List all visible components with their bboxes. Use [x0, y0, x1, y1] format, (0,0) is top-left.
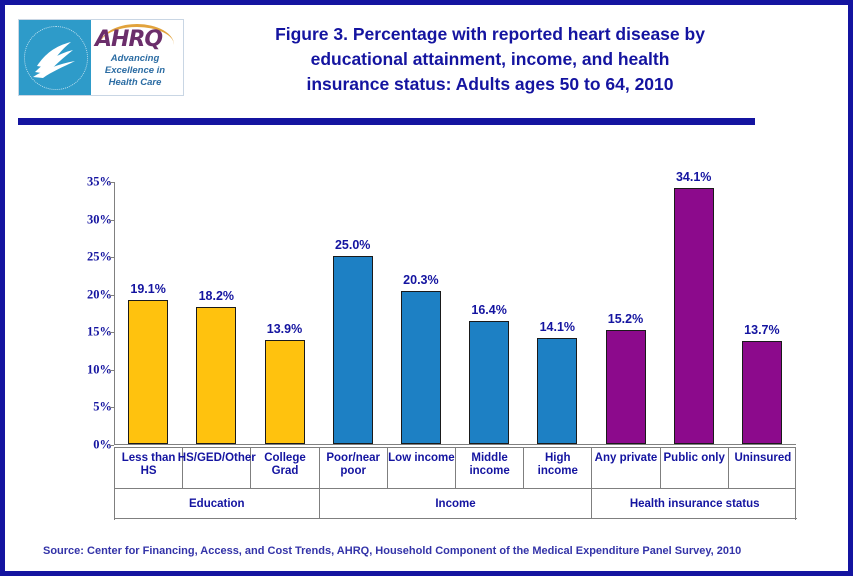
category-label-cell: Uninsured [729, 448, 797, 489]
ahrq-hhs-logo: AHRQ Advancing Excellence in Health Care [18, 19, 184, 96]
plot-area: 19.1%18.2%13.9%25.0%20.3%16.4%14.1%15.2%… [114, 182, 796, 445]
bar-value-label: 13.7% [744, 323, 779, 337]
y-axis-tick-mark [109, 182, 114, 183]
ahrq-wordmark-block: AHRQ Advancing Excellence in Health Care [91, 20, 183, 95]
ahrq-tagline: Advancing Excellence in Health Care [91, 53, 179, 89]
ahrq-tagline-line-3: Health Care [91, 77, 179, 89]
y-axis-tick-label: 35% [66, 175, 112, 190]
bar [265, 340, 305, 444]
bar-value-label: 16.4% [471, 303, 506, 317]
y-axis-tick-label: 25% [66, 250, 112, 265]
figure-header: AHRQ Advancing Excellence in Health Care… [10, 10, 853, 105]
category-label-cell: Middle income [456, 448, 524, 489]
y-axis-tick-label: 20% [66, 287, 112, 302]
bar [128, 300, 168, 444]
y-axis-labels: 0%5%10%15%20%25%30%35% [62, 130, 112, 520]
bar [674, 188, 714, 444]
bar-value-label: 34.1% [676, 170, 711, 184]
ahrq-tagline-line-2: Excellence in [91, 65, 179, 77]
group-label-cell: Education [115, 489, 320, 519]
hhs-eagle-icon [31, 36, 79, 80]
hhs-seal-icon [19, 20, 91, 95]
header-divider-rule [18, 118, 755, 125]
figure-title-line-3: insurance status: Adults ages 50 to 64, … [200, 72, 780, 97]
bar [606, 330, 646, 444]
bar-value-label: 13.9% [267, 322, 302, 336]
bar-value-label: 20.3% [403, 273, 438, 287]
bar [469, 321, 509, 444]
figure-title-line-2: educational attainment, income, and heal… [200, 47, 780, 72]
category-row: Less than HSHS/GED/OtherCollege GradPoor… [115, 447, 795, 489]
bar [196, 307, 236, 444]
ahrq-tagline-line-1: Advancing [91, 53, 179, 65]
bar-value-label: 15.2% [608, 312, 643, 326]
category-table: Less than HSHS/GED/OtherCollege GradPoor… [114, 447, 796, 520]
y-axis-tick-mark [109, 332, 114, 333]
figure-title: Figure 3. Percentage with reported heart… [200, 22, 780, 97]
x-axis-baseline [114, 444, 796, 445]
category-label-cell: College Grad [251, 448, 319, 489]
y-axis-tick-mark [109, 257, 114, 258]
y-axis-tick-label: 30% [66, 212, 112, 227]
category-label-cell: Less than HS [115, 448, 183, 489]
group-label-cell: Income [320, 489, 593, 519]
bar [401, 291, 441, 444]
y-axis-tick-mark [109, 445, 114, 446]
y-axis-tick-label: 0% [66, 438, 112, 453]
category-label-cell: Any private [592, 448, 660, 489]
y-axis-tick-mark [109, 295, 114, 296]
bar-value-label: 19.1% [130, 282, 165, 296]
y-axis-tick-mark [109, 220, 114, 221]
bar [537, 338, 577, 444]
bar [333, 256, 373, 444]
group-row: EducationIncomeHealth insurance status [115, 489, 795, 520]
source-note: Source: Center for Financing, Access, an… [43, 545, 833, 557]
category-label-cell: High income [524, 448, 592, 489]
category-label-cell: Low income [388, 448, 456, 489]
y-axis-line [114, 182, 115, 445]
ahrq-wordmark: AHRQ [95, 29, 183, 51]
bar [742, 341, 782, 444]
y-axis-tick-label: 15% [66, 325, 112, 340]
group-label-cell: Health insurance status [592, 489, 797, 519]
category-label-cell: Poor/near poor [320, 448, 388, 489]
bar-value-label: 14.1% [540, 320, 575, 334]
bar-value-label: 25.0% [335, 238, 370, 252]
figure-page: AHRQ Advancing Excellence in Health Care… [0, 0, 853, 576]
bar-chart: 0%5%10%15%20%25%30%35% 19.1%18.2%13.9%25… [10, 130, 853, 520]
figure-title-line-1: Figure 3. Percentage with reported heart… [200, 22, 780, 47]
y-axis-tick-mark [109, 370, 114, 371]
category-label-cell: HS/GED/Other [183, 448, 251, 489]
y-axis-tick-label: 10% [66, 362, 112, 377]
y-axis-tick-mark [109, 407, 114, 408]
bar-value-label: 18.2% [199, 289, 234, 303]
category-label-cell: Public only [661, 448, 729, 489]
y-axis-tick-label: 5% [66, 400, 112, 415]
